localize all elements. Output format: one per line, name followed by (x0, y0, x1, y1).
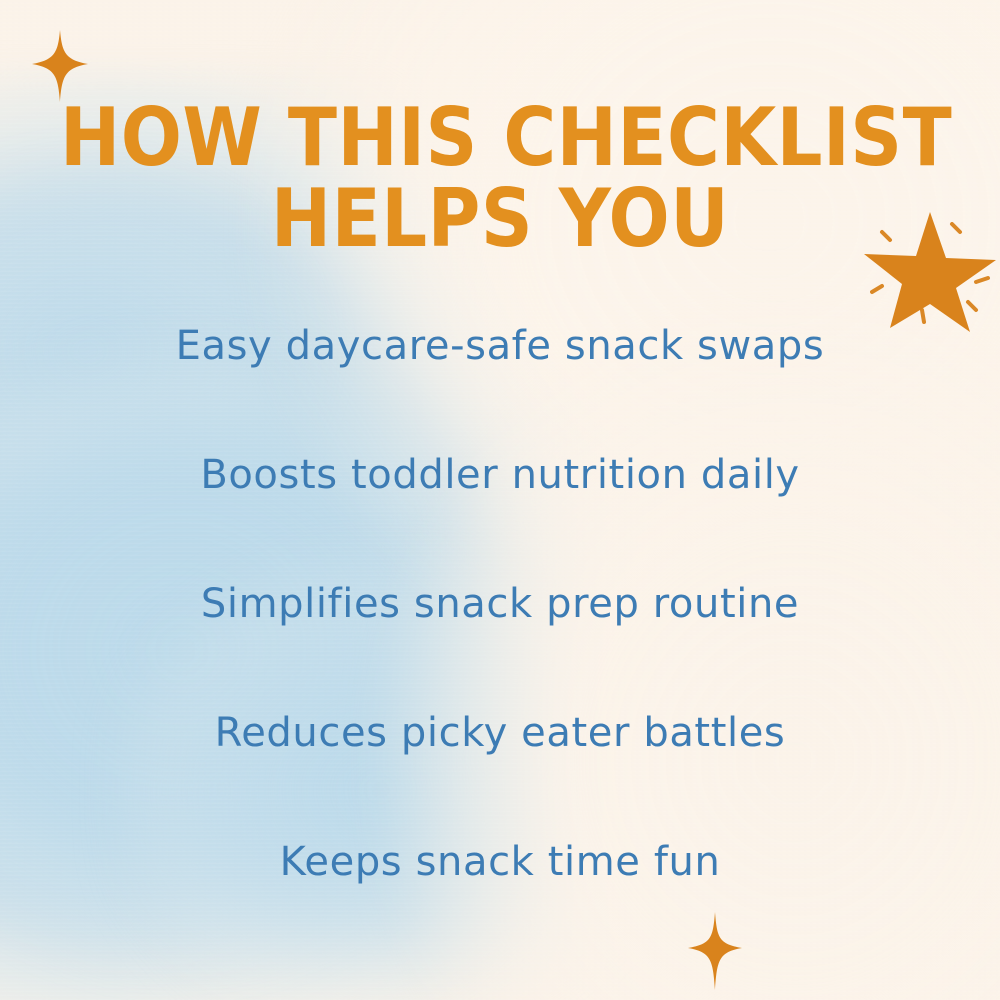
page-title: How This Checklist Helps You (0, 100, 1000, 258)
four-point-sparkle-icon (32, 30, 88, 102)
benefits-list: Easy daycare-safe snack swaps Boosts tod… (0, 326, 1000, 971)
four-point-sparkle-icon (688, 912, 742, 990)
list-item: Easy daycare-safe snack swaps (0, 326, 1000, 455)
list-item: Reduces picky eater battles (0, 713, 1000, 842)
list-item: Boosts toddler nutrition daily (0, 455, 1000, 584)
page-title-line-2: Helps You (60, 181, 940, 258)
list-item: Simplifies snack prep routine (0, 584, 1000, 713)
page-title-line-1: How This Checklist (60, 100, 940, 177)
five-point-star-icon (856, 206, 1000, 332)
poster-canvas: How This Checklist Helps You Easy daycar… (0, 0, 1000, 1000)
list-item: Keeps snack time fun (0, 842, 1000, 971)
